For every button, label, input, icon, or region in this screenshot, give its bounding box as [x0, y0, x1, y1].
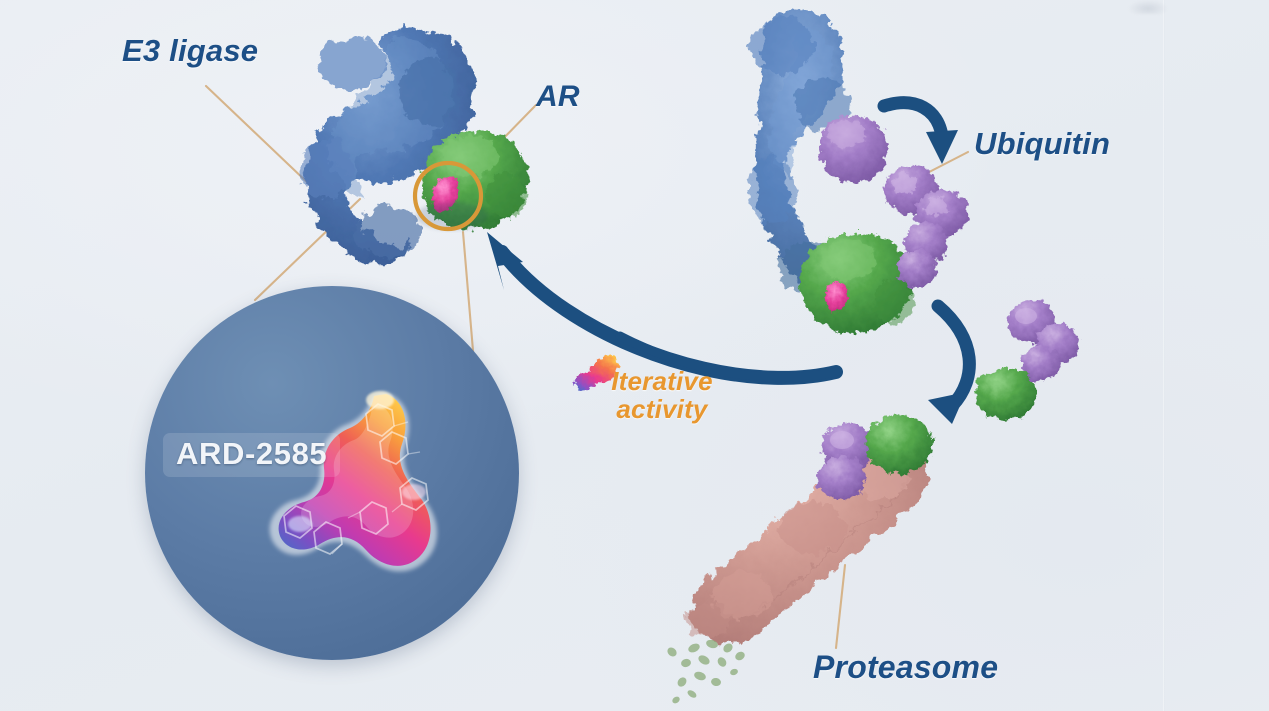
- figure-canvas: E3 ligase AR Ubiquitin Proteasome Iterat…: [0, 0, 1269, 711]
- label-iterative-line2: activity: [577, 396, 747, 424]
- label-iterative-activity: Iterative activity: [577, 368, 747, 423]
- label-e3-ligase: E3 ligase: [122, 33, 258, 69]
- label-iterative-line1: Iterative: [611, 366, 713, 396]
- image-seam-artifact: [1163, 0, 1165, 711]
- label-ar: AR: [536, 80, 580, 114]
- label-compound-ard-2585: ARD-2585: [163, 433, 340, 477]
- watermark-artifact: [1128, 0, 1168, 14]
- label-ubiquitin: Ubiquitin: [974, 126, 1110, 162]
- label-proteasome: Proteasome: [813, 649, 998, 686]
